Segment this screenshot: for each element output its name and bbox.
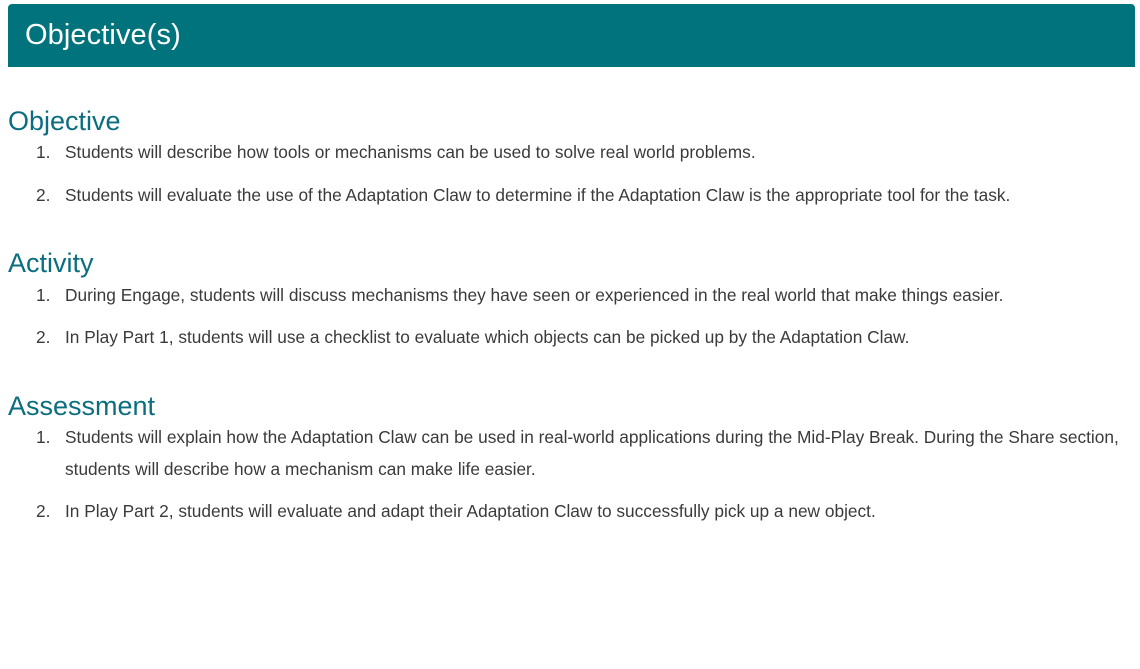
list-item: 1. During Engage, students will discuss … [0,280,1140,312]
list-marker: 2. [36,180,58,212]
list-item: 1. Students will explain how the Adaptat… [0,422,1140,485]
objective-list: 1. Students will describe how tools or m… [0,137,1140,211]
list-item-text: During Engage, students will discuss mec… [65,280,1140,312]
list-item: 2. In Play Part 1, students will use a c… [0,322,1140,354]
lesson-objectives-page: Objective(s) Objective 1. Students will … [0,0,1140,669]
list-item: 1. Students will describe how tools or m… [0,137,1140,169]
list-marker: 2. [36,496,58,528]
assessment-list: 1. Students will explain how the Adaptat… [0,422,1140,528]
objectives-content: Objective 1. Students will describe how … [0,67,1140,528]
list-item-text: In Play Part 1, students will use a chec… [65,322,1140,354]
section-heading-objective: Objective [0,67,1140,137]
list-item-text: In Play Part 2, students will evaluate a… [65,496,1140,528]
objectives-banner: Objective(s) [8,4,1135,67]
section-assessment: Assessment 1. Students will explain how … [0,354,1140,528]
activity-list: 1. During Engage, students will discuss … [0,280,1140,354]
list-item-text: Students will describe how tools or mech… [65,137,1140,169]
list-item-text: Students will explain how the Adaptation… [65,422,1140,485]
list-marker: 1. [36,280,58,312]
list-marker: 2. [36,322,58,354]
list-item: 2. In Play Part 2, students will evaluat… [0,496,1140,528]
list-item: 2. Students will evaluate the use of the… [0,180,1140,212]
section-heading-assessment: Assessment [0,354,1140,422]
page-title: Objective(s) [8,21,181,50]
list-marker: 1. [36,422,58,454]
list-marker: 1. [36,137,58,169]
section-objective: Objective 1. Students will describe how … [0,67,1140,211]
section-activity: Activity 1. During Engage, students will… [0,211,1140,353]
section-heading-activity: Activity [0,211,1140,279]
list-item-text: Students will evaluate the use of the Ad… [65,180,1140,212]
